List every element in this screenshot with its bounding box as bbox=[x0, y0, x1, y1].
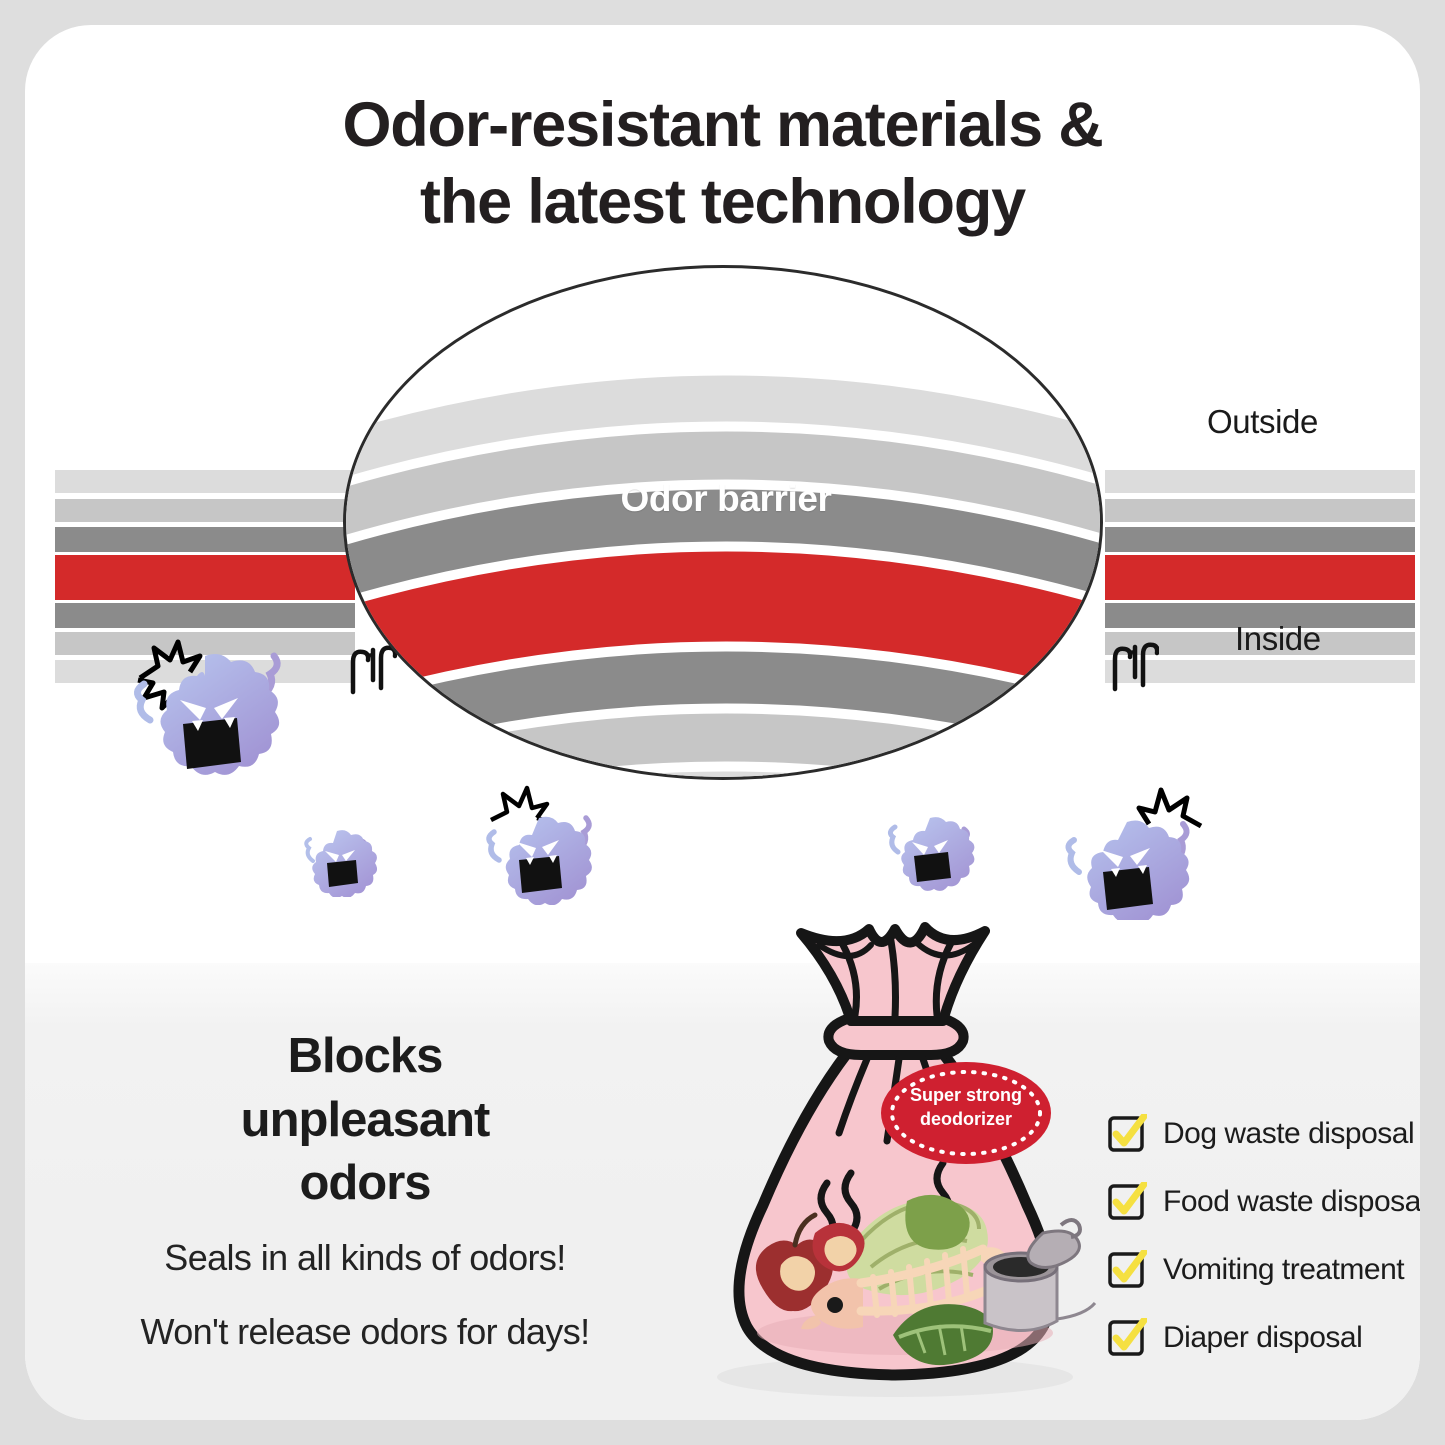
checkbox[interactable] bbox=[1107, 1182, 1147, 1222]
odor-germ-icon bbox=[297, 817, 377, 902]
film-layer-left-2 bbox=[55, 499, 355, 522]
checkbox[interactable] bbox=[1107, 1114, 1147, 1154]
odor-germ-icon bbox=[1055, 780, 1205, 925]
sub-line-1: Seals in all kinds of odors! bbox=[85, 1237, 645, 1279]
film-layer-left-3 bbox=[55, 527, 355, 552]
outside-label: Outside bbox=[1207, 403, 1318, 441]
checklist-item-label: Diaper disposal bbox=[1163, 1321, 1362, 1355]
odor-germ-icon bbox=[120, 620, 310, 785]
bottom-headline: Blocks unpleasant odors bbox=[85, 1025, 645, 1216]
film-layer-right-4-red bbox=[1105, 555, 1415, 600]
headline-line-3: odors bbox=[85, 1152, 645, 1216]
checklist-item-label: Vomiting treatment bbox=[1163, 1253, 1404, 1287]
checklist-item-label: Dog waste disposal bbox=[1163, 1117, 1414, 1151]
film-layer-right-1 bbox=[1105, 470, 1415, 493]
odor-germ-icon bbox=[477, 780, 607, 910]
checklist-item[interactable]: Dog waste disposal bbox=[1107, 1100, 1420, 1168]
checkbox[interactable] bbox=[1107, 1318, 1147, 1358]
magnified-film-layers bbox=[346, 268, 1103, 780]
infographic-card: Odor-resistant materials & the latest te… bbox=[25, 25, 1420, 1420]
title-line-1: Odor-resistant materials & bbox=[25, 87, 1420, 164]
checklist-item[interactable]: Vomiting treatment bbox=[1107, 1236, 1420, 1304]
film-layer-left-1 bbox=[55, 470, 355, 493]
odor-germ-icon bbox=[880, 800, 980, 900]
inside-label: Inside bbox=[1235, 620, 1321, 658]
page-title: Odor-resistant materials & the latest te… bbox=[25, 87, 1420, 241]
badge-line-2: deodorizer bbox=[880, 1107, 1052, 1131]
magnifier-circle: Odor barrier bbox=[343, 265, 1103, 780]
title-line-2: the latest technology bbox=[25, 164, 1420, 241]
headline-line-1: Blocks bbox=[85, 1025, 645, 1089]
odor-barrier-label: Odor barrier bbox=[346, 478, 1103, 520]
film-layer-left-4-red bbox=[55, 555, 355, 600]
badge-line-1: Super strong bbox=[880, 1083, 1052, 1107]
feature-checklist: Dog waste disposal Food waste disposal V… bbox=[1107, 1100, 1420, 1372]
checklist-item-label: Food waste disposal bbox=[1163, 1185, 1420, 1219]
film-layer-right-3 bbox=[1105, 527, 1415, 552]
deodorizer-badge-text: Super strong deodorizer bbox=[880, 1083, 1052, 1132]
checklist-item[interactable]: Diaper disposal bbox=[1107, 1304, 1420, 1372]
checkbox[interactable] bbox=[1107, 1250, 1147, 1290]
sub-line-2: Won't release odors for days! bbox=[85, 1311, 645, 1353]
deodorizer-badge: Super strong deodorizer bbox=[880, 1061, 1052, 1166]
checklist-item[interactable]: Food waste disposal bbox=[1107, 1168, 1420, 1236]
stink-lines-icon bbox=[1097, 637, 1159, 700]
film-layer-right-2 bbox=[1105, 499, 1415, 522]
impact-spikes-icon bbox=[1139, 790, 1201, 826]
headline-line-2: unpleasant bbox=[85, 1089, 645, 1153]
